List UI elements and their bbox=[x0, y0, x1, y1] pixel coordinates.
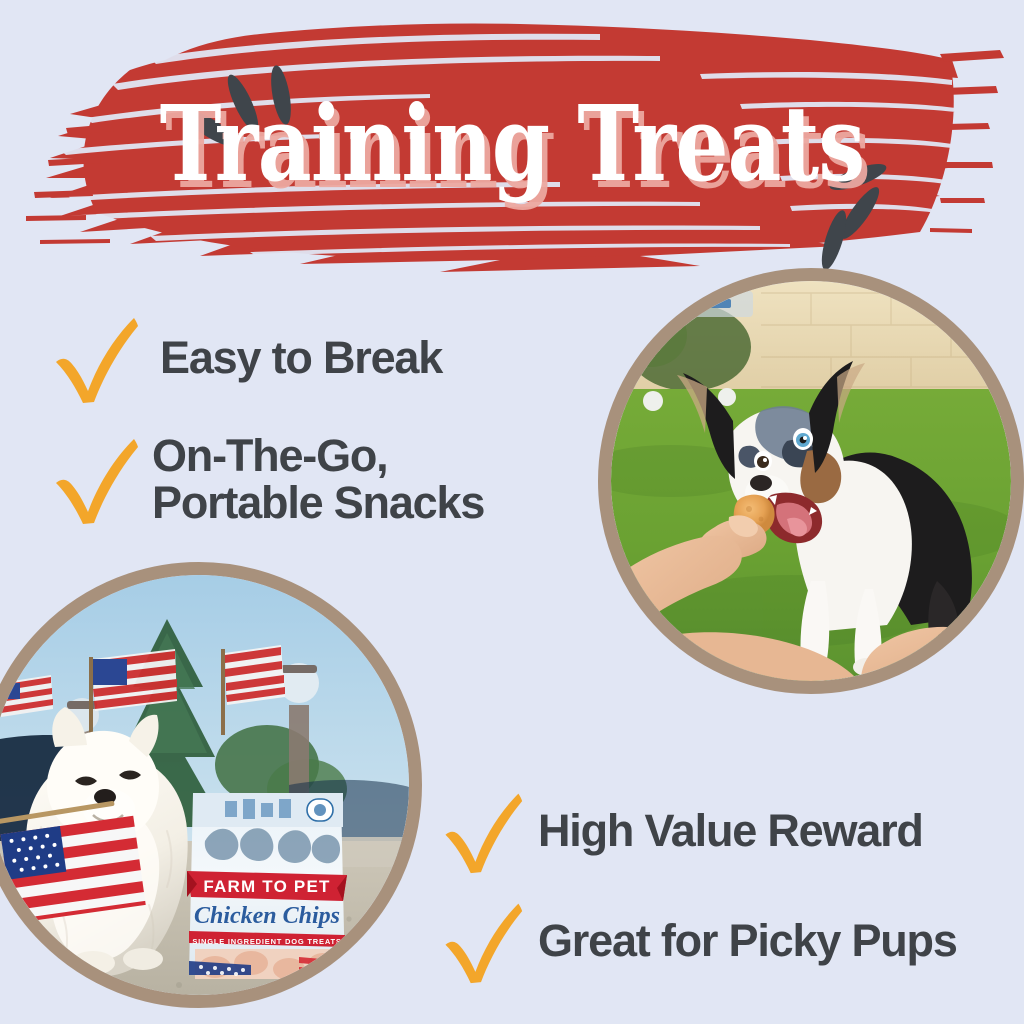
feature-item-easy-to-break: Easy to Break bbox=[48, 312, 442, 404]
package-tagline: SINGLE INGREDIENT DOG TREATS bbox=[192, 937, 341, 946]
checkmark-icon bbox=[48, 433, 140, 525]
feature-item-picky-pups: Great for Picky Pups bbox=[438, 898, 957, 984]
title-banner: Training Treats bbox=[0, 0, 1024, 290]
checkmark-icon bbox=[48, 312, 140, 404]
feature-label: Great for Picky Pups bbox=[538, 917, 957, 964]
chicken-chips-package: FARM TO PET Chicken Chips SINGLE INGREDI… bbox=[187, 793, 347, 980]
package-product: Chicken Chips bbox=[194, 903, 340, 929]
dog-taking-treat-photo bbox=[598, 268, 1024, 694]
photo-frame: FARM TO PET Chicken Chips SINGLE INGREDI… bbox=[0, 575, 409, 995]
photo-illustration bbox=[611, 281, 1011, 681]
checkmark-icon bbox=[438, 788, 524, 874]
photo-illustration: FARM TO PET Chicken Chips SINGLE INGREDI… bbox=[0, 575, 409, 995]
page-title: Training Treats bbox=[102, 92, 921, 196]
feature-label: High Value Reward bbox=[538, 807, 923, 854]
photo-frame bbox=[611, 281, 1011, 681]
package-brand: FARM TO PET bbox=[203, 877, 330, 896]
pomeranian-with-package-photo: FARM TO PET Chicken Chips SINGLE INGREDI… bbox=[0, 562, 422, 1008]
feature-item-on-the-go: On-The-Go, Portable Snacks bbox=[48, 432, 484, 527]
feature-label: Easy to Break bbox=[160, 334, 442, 381]
checkmark-icon bbox=[438, 898, 524, 984]
feature-label: On-The-Go, Portable Snacks bbox=[152, 432, 484, 527]
poster-canvas: Training Treats Easy to Break On-The-Go,… bbox=[0, 0, 1024, 1024]
feature-item-high-value-reward: High Value Reward bbox=[438, 788, 923, 874]
